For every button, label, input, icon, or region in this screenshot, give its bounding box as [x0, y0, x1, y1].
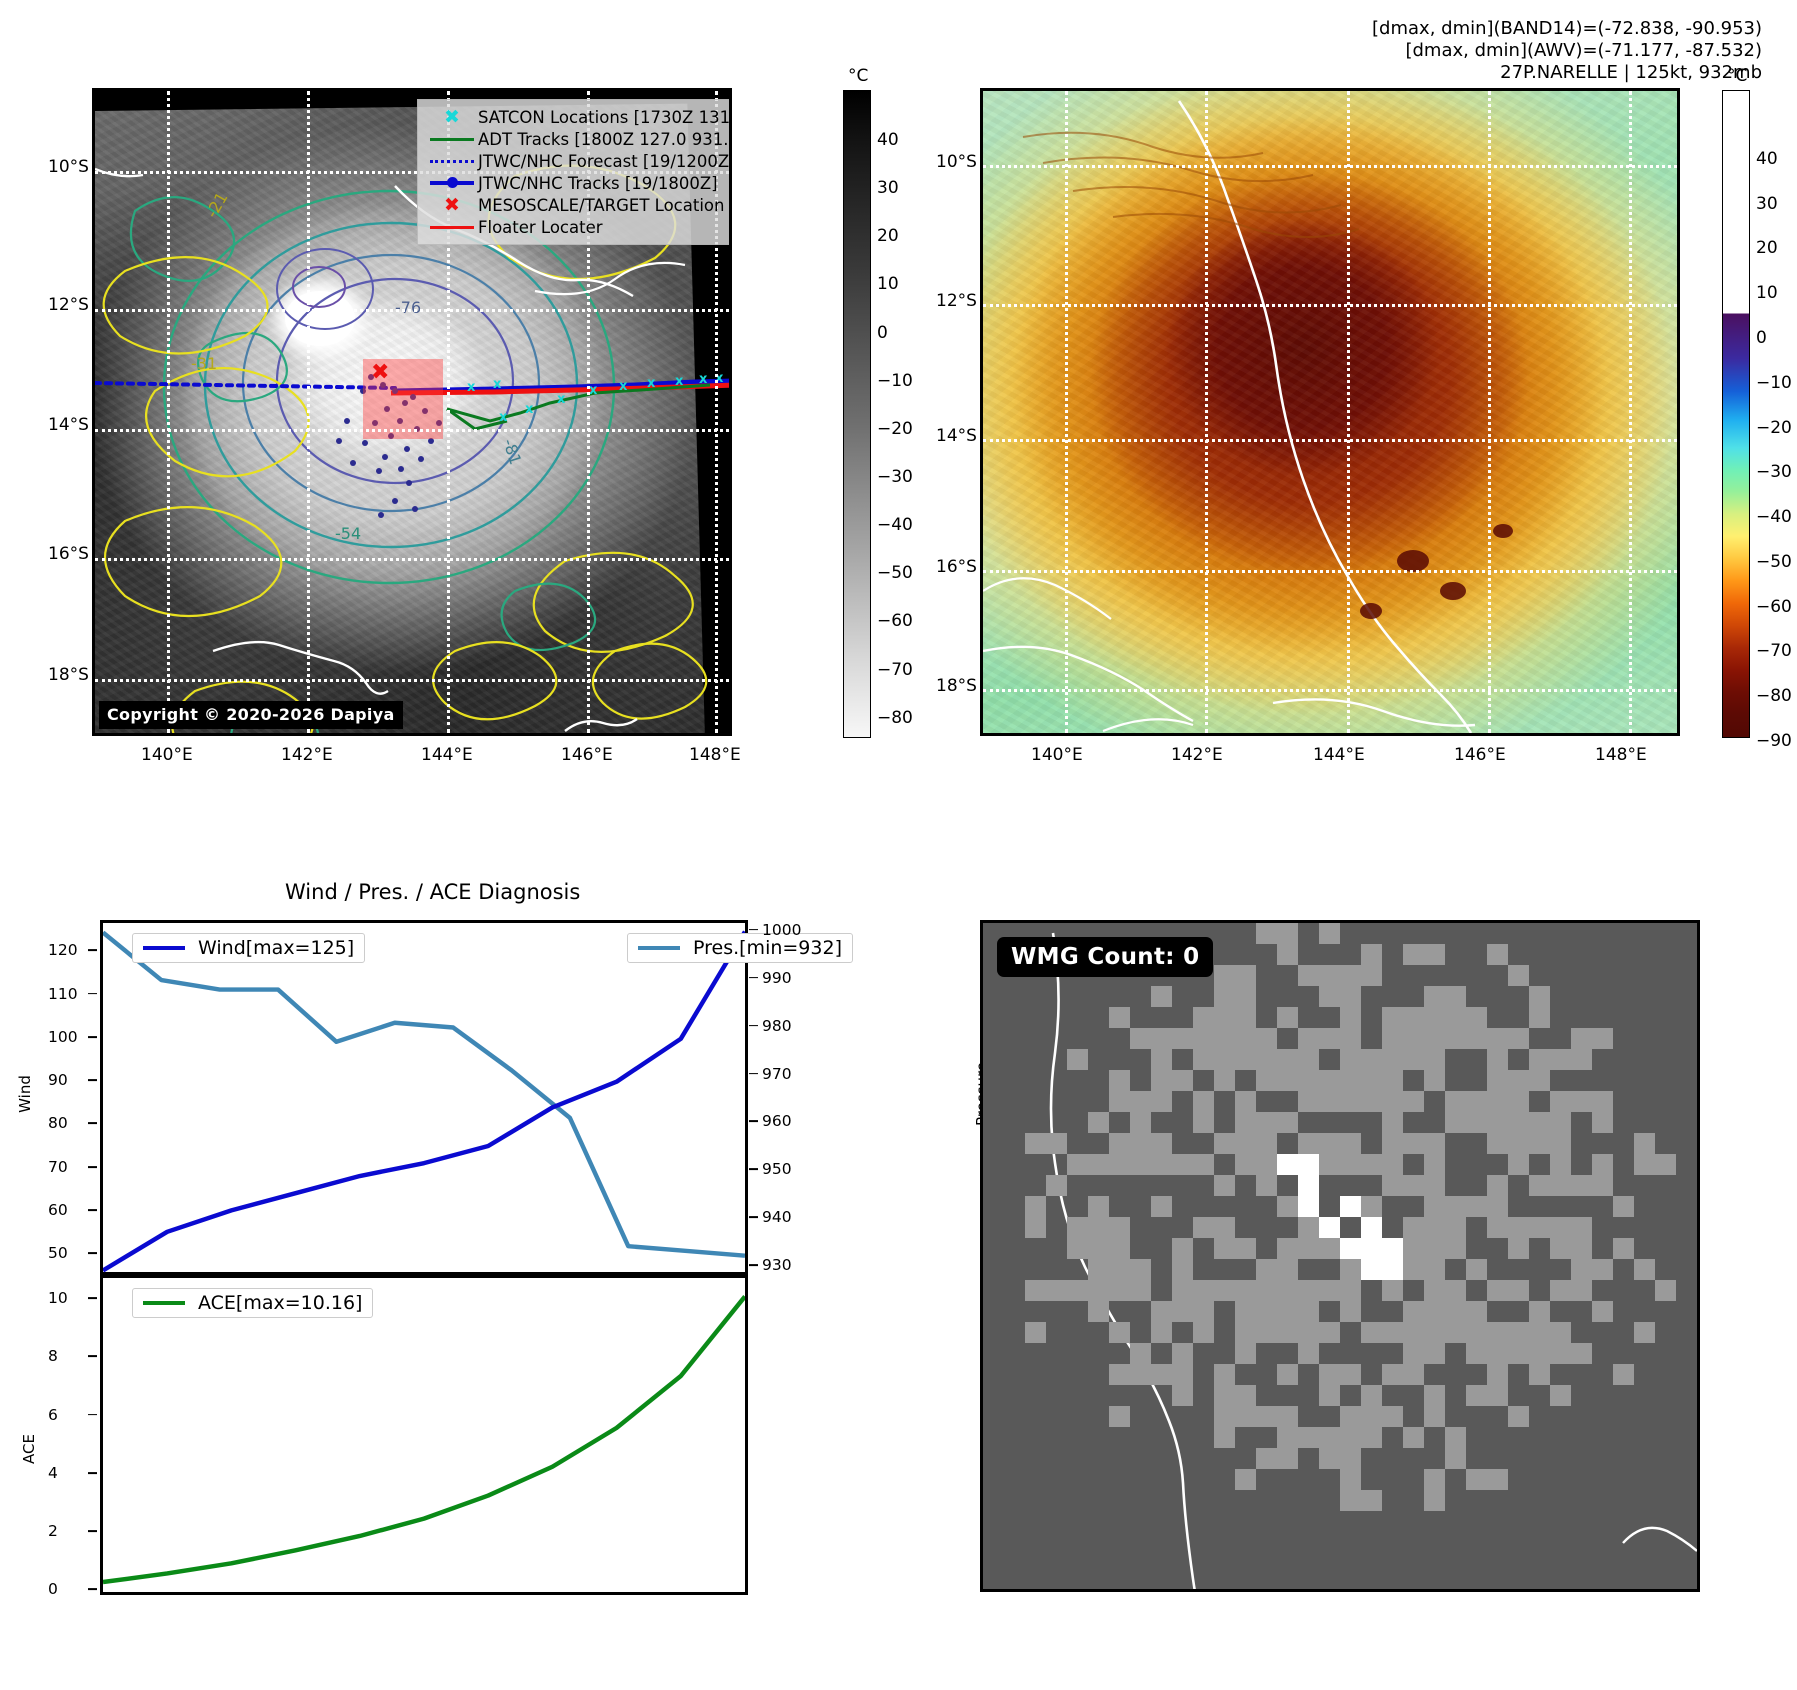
- y-tick-110: 110: [48, 985, 78, 1003]
- y-tick-mark-6: [88, 1414, 97, 1416]
- y-tick-mark-100: [88, 1036, 97, 1038]
- y-tick-mark-2: [88, 1530, 97, 1532]
- svg-text:x: x: [647, 376, 656, 391]
- mesoscale-x-icon: ✖: [426, 196, 478, 215]
- pressure-legend-swatch: [638, 946, 680, 951]
- y-tick-mark-80: [88, 1123, 97, 1125]
- wind-legend-swatch: [143, 946, 185, 951]
- ace-axis-label: ACE: [20, 1434, 38, 1464]
- svg-text:-21: -21: [202, 189, 232, 221]
- legend-item-adt[interactable]: ADT Tracks [1800Z 127.0 931.1]: [426, 128, 729, 150]
- ir-cb-tick-m20: −20: [877, 419, 913, 439]
- y-tick-10: 10: [48, 1289, 68, 1307]
- y-tick-980: 980: [762, 1017, 792, 1035]
- svg-text:-31: -31: [191, 354, 217, 373]
- svg-text:-81: -81: [499, 436, 525, 467]
- svg-text:x: x: [493, 377, 502, 392]
- legend-item-mesoscale[interactable]: ✖ MESOSCALE/TARGET Location: [426, 194, 729, 216]
- ir-colorbar-ticks: 40 30 20 10 0 −10 −20 −30 −40 −50 −60 −7…: [877, 90, 947, 738]
- y-tick-mark-4: [88, 1472, 97, 1474]
- ir-lon-label-146e: 146°E: [561, 745, 613, 765]
- ir-lon-label-148e: 148°E: [689, 745, 741, 765]
- ace-plot-area: [103, 1278, 745, 1595]
- awv-lon-label-140e: 140°E: [1031, 745, 1083, 765]
- legend-item-floater[interactable]: Floater Locater: [426, 216, 729, 238]
- awv-cb-tick-m70: −70: [1756, 641, 1792, 661]
- ir-cb-tick-0: 0: [877, 323, 888, 343]
- awv-lat-label-16s: 16°S: [936, 557, 977, 577]
- ir-cb-tick-m70: −70: [877, 660, 913, 680]
- awv-cb-tick-30: 30: [1756, 194, 1778, 214]
- wind-legend-label: Wind[max=125]: [198, 937, 354, 959]
- legend-item-forecast[interactable]: JTWC/NHC Forecast [19/1200Z]: [426, 150, 729, 172]
- wmg-cell-grid: [983, 923, 1697, 1589]
- ir-map-legend[interactable]: ✖ SATCON Locations [1730Z 131 929] ADT T…: [417, 99, 729, 245]
- y-tick-mark-120: [88, 949, 97, 951]
- ir-cb-tick-m50: −50: [877, 563, 913, 583]
- ir-gridline-lon-142e: [307, 91, 310, 733]
- y-tick-mark-980: [749, 1025, 758, 1027]
- ir-lon-label-144e: 144°E: [421, 745, 473, 765]
- satcon-x-icon: ✖: [426, 108, 478, 127]
- y-tick-mark-90: [88, 1079, 97, 1081]
- awv-gridline-lon-142e: [1205, 91, 1208, 733]
- svg-text:✖: ✖: [371, 360, 389, 385]
- ir-cb-tick-40: 40: [877, 130, 899, 150]
- ir-gridline-lat-12s: [95, 309, 729, 312]
- awv-cb-tick-10: 10: [1756, 283, 1778, 303]
- svg-text:x: x: [499, 410, 508, 425]
- ir-colorbar-unit: °C: [848, 66, 868, 86]
- tracks-line-dot-icon: [426, 181, 478, 185]
- awv-lon-label-148e: 148°E: [1595, 745, 1647, 765]
- wmg-raster: WMG Count: 0: [983, 923, 1697, 1589]
- diagnosis-title: Wind / Pres. / ACE Diagnosis: [285, 880, 580, 904]
- awv-colorbar-ticks: 40 30 20 10 0 −10 −20 −30 −40 −50 −60 −7…: [1756, 90, 1797, 738]
- awv-lat-label-10s: 10°S: [936, 152, 977, 172]
- y-tick-8: 8: [48, 1347, 58, 1365]
- awv-gridline-lat-10s: [983, 165, 1677, 168]
- awv-gridline-lon-144e: [1347, 91, 1350, 733]
- y-tick-990: 990: [762, 969, 792, 987]
- ace-legend-label: ACE[max=10.16]: [198, 1292, 362, 1314]
- y-tick-mark-930: [749, 1264, 758, 1266]
- ir-lat-label-12s: 12°S: [48, 295, 89, 315]
- y-tick-100: 100: [48, 1028, 78, 1046]
- awv-map-panel[interactable]: [980, 88, 1680, 736]
- y-tick-4: 4: [48, 1464, 58, 1482]
- awv-lat-label-14s: 14°S: [936, 426, 977, 446]
- ir-cb-tick-m30: −30: [877, 467, 913, 487]
- y-tick-960: 960: [762, 1112, 792, 1130]
- dmax-dmin-band14: [dmax, dmin](BAND14)=(-72.838, -90.953): [1372, 18, 1762, 40]
- awv-cb-tick-m50: −50: [1756, 552, 1792, 572]
- awv-colorbar-unit: °C: [1727, 66, 1747, 86]
- awv-cb-tick-m60: −60: [1756, 597, 1792, 617]
- awv-gridline-lat-16s: [983, 570, 1677, 573]
- ace-chart[interactable]: [100, 1275, 748, 1595]
- ace-legend[interactable]: ACE[max=10.16]: [132, 1288, 373, 1318]
- legend-label-adt: ADT Tracks [1800Z 127.0 931.1]: [478, 130, 729, 149]
- ir-cb-tick-m10: −10: [877, 371, 913, 391]
- svg-text:x: x: [675, 374, 684, 389]
- legend-label-forecast: JTWC/NHC Forecast [19/1200Z]: [478, 152, 729, 171]
- wmg-count-badge: WMG Count: 0: [997, 937, 1213, 977]
- y-tick-mark-1000: [749, 929, 758, 931]
- dmax-dmin-awv: [dmax, dmin](AWV)=(-71.177, -87.532): [1372, 40, 1762, 62]
- floater-line-icon: [426, 226, 478, 229]
- svg-text:-54: -54: [335, 524, 361, 543]
- ir-cb-tick-m80: −80: [877, 708, 913, 728]
- metadata-block: [dmax, dmin](BAND14)=(-72.838, -90.953) …: [1372, 18, 1762, 84]
- ir-gridline-lon-140e: [167, 91, 170, 733]
- ir-lon-label-142e: 142°E: [281, 745, 333, 765]
- awv-lon-label-142e: 142°E: [1171, 745, 1223, 765]
- pressure-legend-label: Pres.[min=932]: [693, 937, 842, 959]
- svg-text:-76: -76: [395, 298, 421, 317]
- wmg-panel[interactable]: WMG Count: 0: [980, 920, 1700, 1592]
- awv-cb-tick-0: 0: [1756, 328, 1767, 348]
- y-tick-mark-50: [88, 1252, 97, 1254]
- legend-label-floater: Floater Locater: [478, 218, 603, 237]
- y-tick-940: 940: [762, 1208, 792, 1226]
- legend-label-tracks: JTWC/NHC Tracks [19/1800Z]: [478, 174, 718, 193]
- y-tick-970: 970: [762, 1065, 792, 1083]
- adt-line-icon: [426, 138, 478, 141]
- ir-cb-tick-m40: −40: [877, 515, 913, 535]
- awv-gridline-lat-14s: [983, 439, 1677, 442]
- y-tick-mark-110: [88, 993, 97, 995]
- y-tick-60: 60: [48, 1201, 68, 1219]
- y-tick-6: 6: [48, 1406, 58, 1424]
- awv-lon-label-146e: 146°E: [1454, 745, 1506, 765]
- awv-lat-label-18s: 18°S: [936, 676, 977, 696]
- y-tick-2: 2: [48, 1522, 58, 1540]
- awv-cb-tick-m10: −10: [1756, 373, 1792, 393]
- awv-gridline-lat-12s: [983, 304, 1677, 307]
- ir-gridline-lat-18s: [95, 679, 729, 682]
- ir-lat-label-18s: 18°S: [48, 665, 89, 685]
- wind-pressure-chart[interactable]: [100, 920, 748, 1275]
- ir-lat-label-14s: 14°S: [48, 415, 89, 435]
- awv-gridline-lat-18s: [983, 689, 1677, 692]
- awv-cb-tick-m90: −90: [1756, 731, 1792, 751]
- ir-map-panel[interactable]: -76 -81 -54 -31 -21 xxx xxx xxx xx: [92, 88, 732, 736]
- y-tick-mark-10: [88, 1297, 97, 1299]
- y-tick-930: 930: [762, 1256, 792, 1274]
- wind-pressure-plot-area: [103, 923, 745, 1275]
- awv-lat-label-12s: 12°S: [936, 291, 977, 311]
- y-tick-50: 50: [48, 1244, 68, 1262]
- ace-legend-swatch: [143, 1301, 185, 1306]
- legend-item-tracks[interactable]: JTWC/NHC Tracks [19/1800Z]: [426, 172, 729, 194]
- y-tick-mark-940: [749, 1217, 758, 1219]
- ir-cb-tick-10: 10: [877, 274, 899, 294]
- awv-lon-label-144e: 144°E: [1313, 745, 1365, 765]
- awv-colorbar[interactable]: [1722, 90, 1750, 738]
- wind-legend[interactable]: Wind[max=125]: [132, 933, 365, 963]
- awv-cb-tick-20: 20: [1756, 238, 1778, 258]
- ir-lat-label-16s: 16°S: [48, 544, 89, 564]
- y-tick-mark-970: [749, 1073, 758, 1075]
- y-tick-0: 0: [48, 1580, 58, 1598]
- legend-item-satcon[interactable]: ✖ SATCON Locations [1730Z 131 929]: [426, 106, 729, 128]
- ir-lon-label-140e: 140°E: [141, 745, 193, 765]
- ir-gridline-lat-14s: [95, 429, 729, 432]
- svg-text:x: x: [557, 392, 566, 407]
- y-tick-mark-960: [749, 1121, 758, 1123]
- copyright-notice: Copyright © 2020-2026 Dapiya: [99, 701, 403, 729]
- ir-gridline-lat-16s: [95, 558, 729, 561]
- awv-gridline-lon-140e: [1065, 91, 1068, 733]
- y-tick-mark-60: [88, 1209, 97, 1211]
- awv-gridline-lon-146e: [1488, 91, 1491, 733]
- wind-axis-label: Wind: [16, 1075, 34, 1113]
- y-tick-120: 120: [48, 941, 78, 959]
- y-tick-1000: 1000: [762, 921, 801, 939]
- awv-cb-tick-m80: −80: [1756, 686, 1792, 706]
- pressure-legend[interactable]: Pres.[min=932]: [627, 933, 853, 963]
- y-tick-mark-950: [749, 1169, 758, 1171]
- ir-cb-tick-m60: −60: [877, 611, 913, 631]
- awv-overlay-vectors: [983, 91, 1677, 733]
- legend-label-satcon: SATCON Locations [1730Z 131 929]: [478, 108, 729, 127]
- ir-cb-tick-20: 20: [877, 226, 899, 246]
- awv-cb-tick-m30: −30: [1756, 462, 1792, 482]
- svg-text:x: x: [699, 372, 708, 387]
- awv-gridline-lon-148e: [1629, 91, 1632, 733]
- svg-text:x: x: [467, 380, 476, 395]
- y-tick-mark-70: [88, 1166, 97, 1168]
- y-tick-950: 950: [762, 1160, 792, 1178]
- awv-cb-tick-m40: −40: [1756, 507, 1792, 527]
- y-tick-mark-8: [88, 1356, 97, 1358]
- storm-summary: 27P.NARELLE | 125kt, 932mb: [1372, 62, 1762, 84]
- y-tick-90: 90: [48, 1071, 68, 1089]
- y-tick-mark-0: [88, 1588, 97, 1590]
- awv-cb-tick-40: 40: [1756, 149, 1778, 169]
- legend-label-mesoscale: MESOSCALE/TARGET Location: [478, 196, 724, 215]
- y-tick-mark-990: [749, 977, 758, 979]
- forecast-dotted-line-icon: [426, 160, 478, 163]
- ir-lat-label-10s: 10°S: [48, 157, 89, 177]
- svg-text:x: x: [619, 379, 628, 394]
- awv-cb-tick-m20: −20: [1756, 418, 1792, 438]
- ir-colorbar[interactable]: [843, 90, 871, 738]
- y-tick-80: 80: [48, 1114, 68, 1132]
- y-tick-70: 70: [48, 1158, 68, 1176]
- svg-text:x: x: [525, 402, 534, 417]
- ir-satellite-image: -76 -81 -54 -31 -21 xxx xxx xxx xx: [95, 91, 729, 733]
- ir-cb-tick-30: 30: [877, 178, 899, 198]
- svg-text:x: x: [589, 383, 598, 398]
- awv-satellite-image: [983, 91, 1677, 733]
